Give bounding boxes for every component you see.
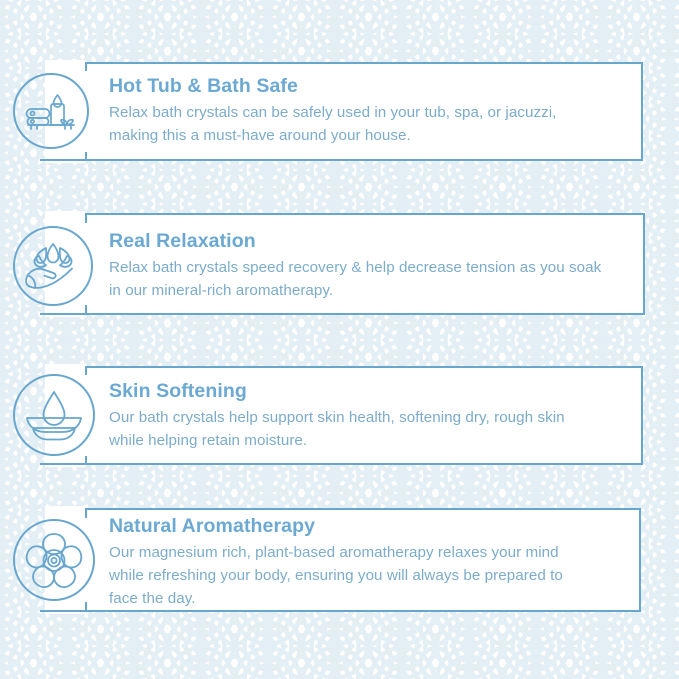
- notch-stub-bottom: [85, 456, 87, 465]
- notch-stub-top: [85, 366, 87, 375]
- notch-edge-top: [56, 62, 86, 64]
- notch-edge-bottom: [40, 313, 86, 315]
- notch-stub-top: [85, 213, 87, 223]
- notch-stub-bottom: [85, 602, 87, 612]
- feature-text: Natural Aromatherapy Our magnesium rich,…: [109, 514, 629, 610]
- feature-text: Skin Softening Our bath crystals help su…: [109, 379, 619, 452]
- candle-towels-icon: [15, 75, 87, 147]
- feature-description: Relax bath crystals can be safely used i…: [109, 101, 579, 147]
- feature-list: Hot Tub & Bath Safe Relax bath crystals …: [0, 0, 679, 679]
- water-droplet-bowl-icon: [15, 376, 93, 454]
- flower-blossom-icon: [15, 521, 93, 599]
- notch-edge-bottom: [40, 463, 86, 465]
- feature-text: Hot Tub & Bath Safe Relax bath crystals …: [109, 74, 619, 147]
- feature-text: Real Relaxation Relax bath crystals spee…: [109, 229, 629, 302]
- notch-stub-bottom: [85, 152, 87, 161]
- feature-description: Our magnesium rich, plant-based aromathe…: [109, 541, 589, 610]
- feature-description: Our bath crystals help support skin heal…: [109, 406, 579, 452]
- feature-title: Real Relaxation: [109, 229, 629, 253]
- feature-title: Natural Aromatherapy: [109, 514, 629, 538]
- notch-edge-bottom: [40, 610, 86, 612]
- feature-icon-circle: [13, 226, 93, 306]
- notch-stub-top: [85, 508, 87, 518]
- notch-edge-bottom: [40, 159, 86, 161]
- feature-title: Skin Softening: [109, 379, 619, 403]
- feature-description: Relax bath crystals speed recovery & hel…: [109, 256, 609, 302]
- hand-lotus-icon: [15, 228, 91, 304]
- notch-stub-bottom: [85, 305, 87, 315]
- notch-stub-top: [85, 62, 87, 71]
- feature-icon-circle: [13, 519, 95, 601]
- feature-icon-circle: [13, 73, 89, 149]
- feature-icon-circle: [13, 374, 95, 456]
- feature-title: Hot Tub & Bath Safe: [109, 74, 619, 98]
